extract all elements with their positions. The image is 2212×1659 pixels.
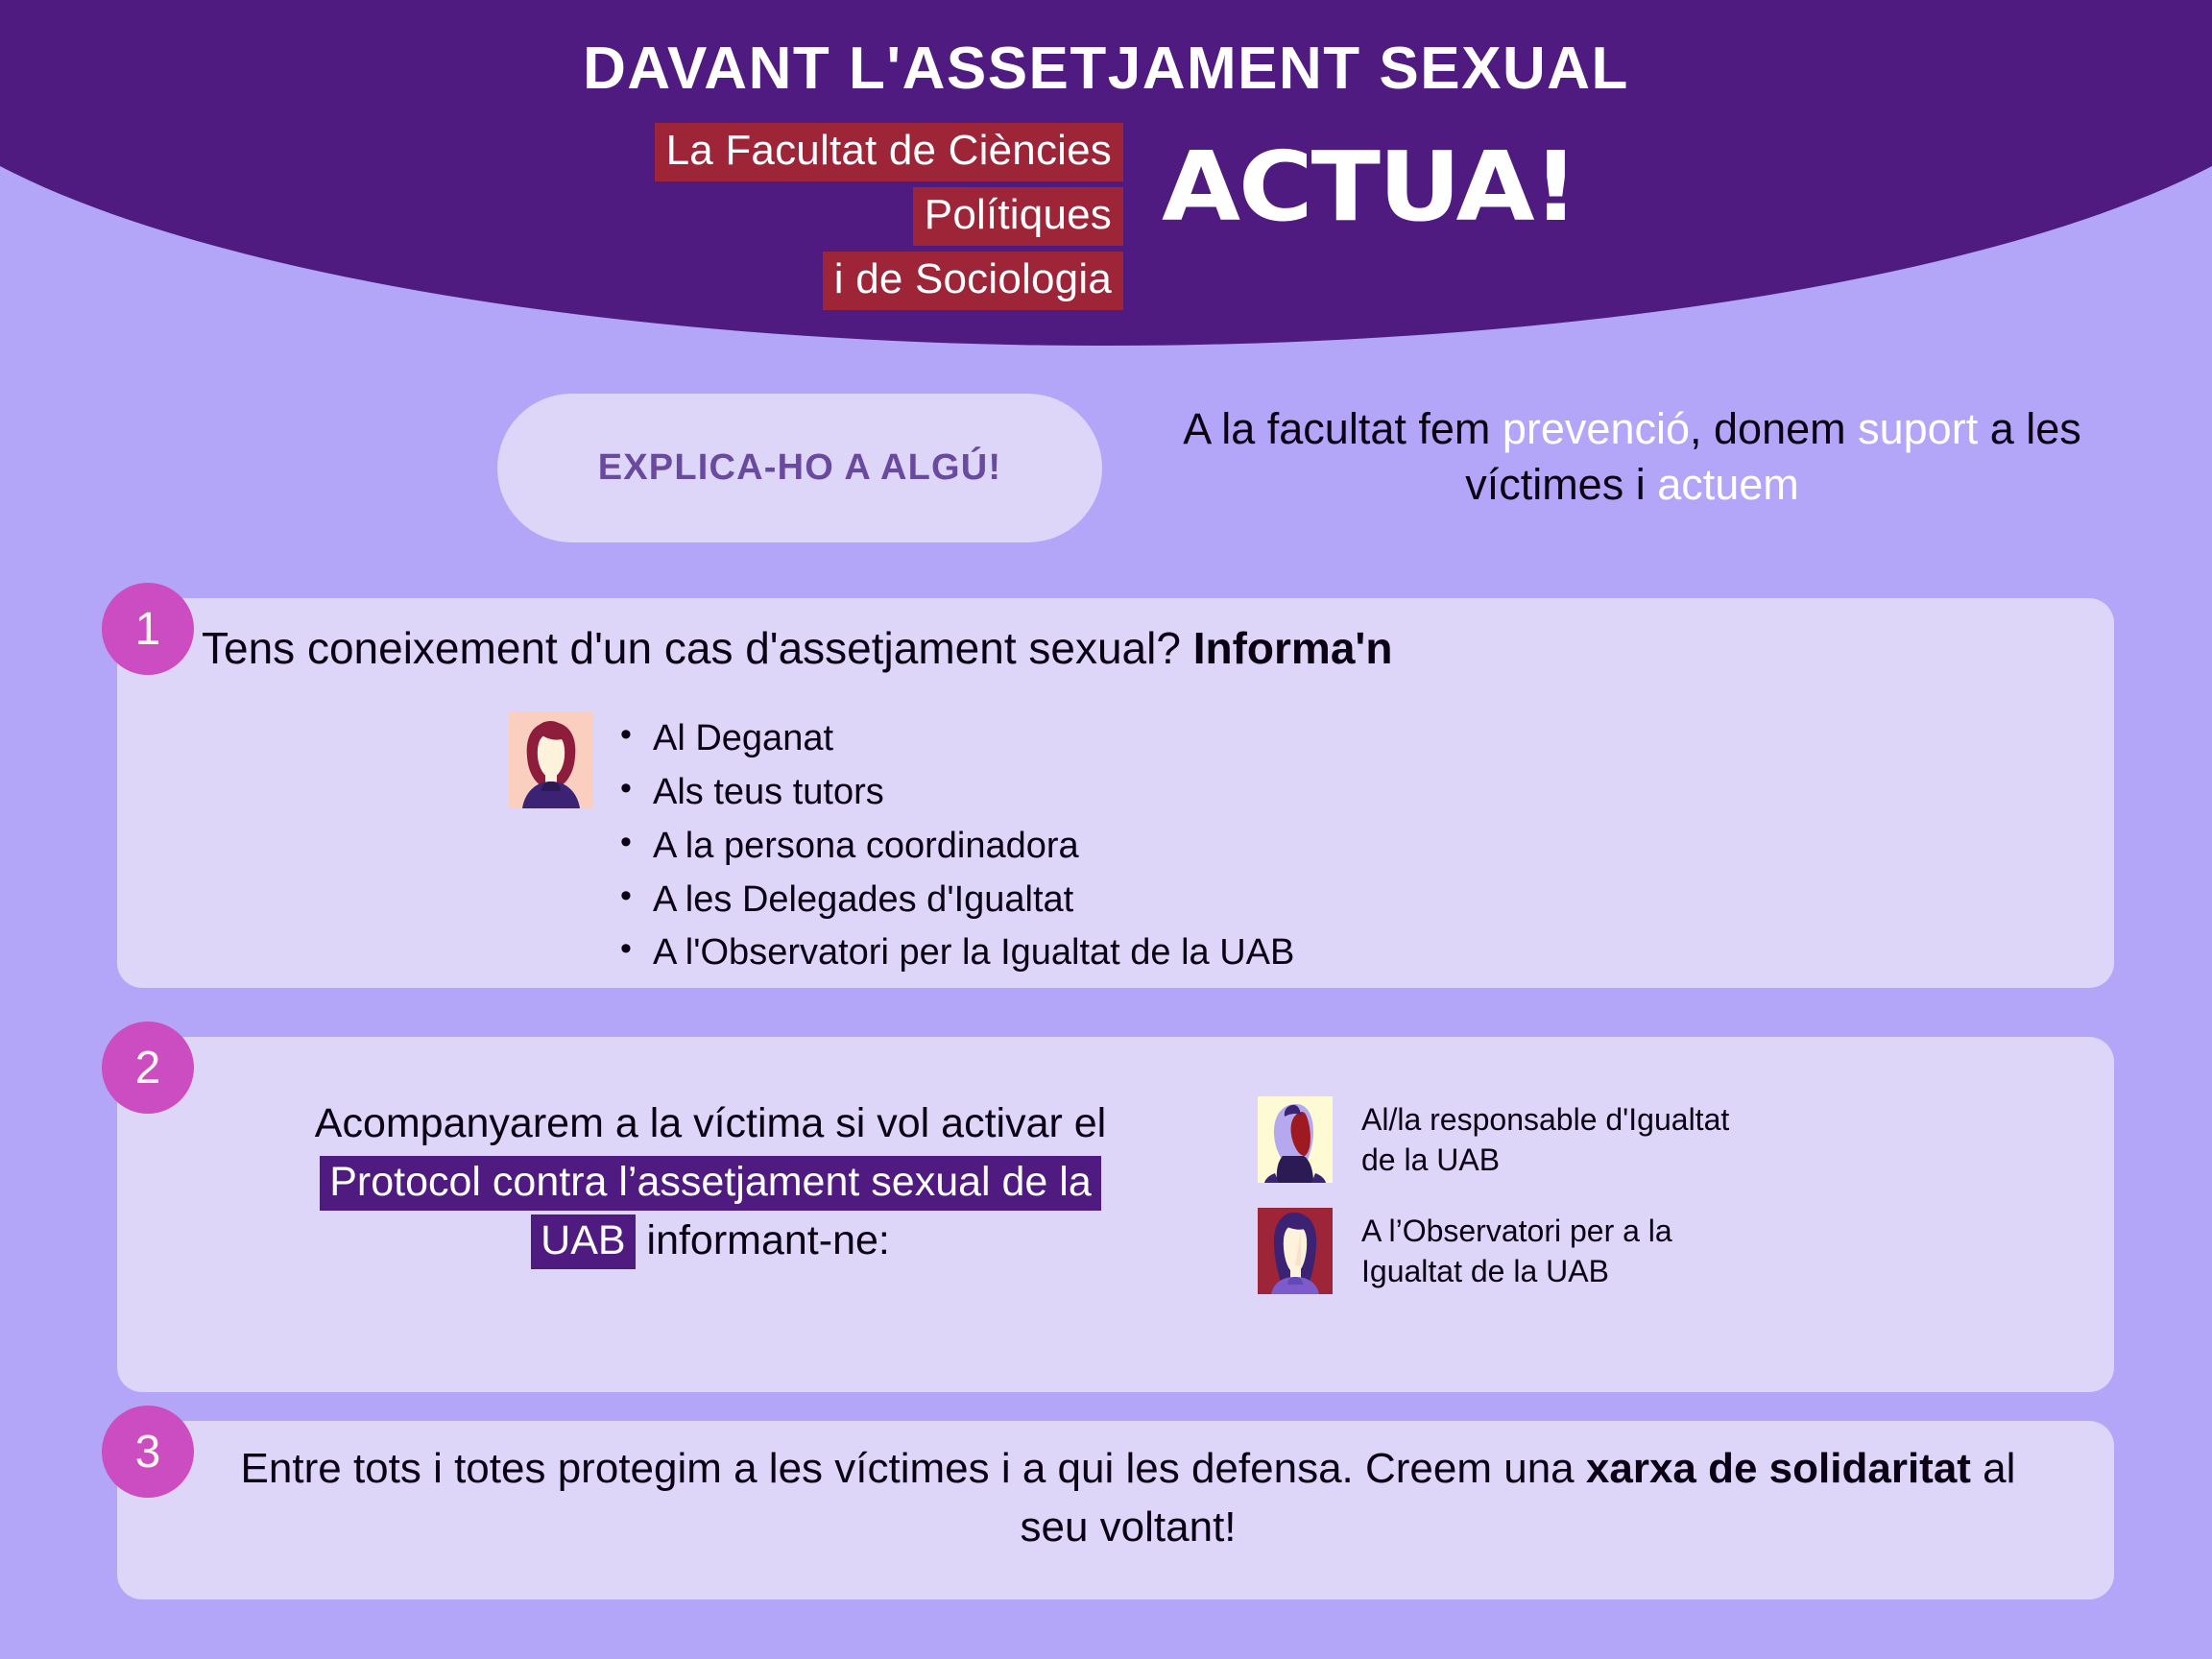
- actua-logo: ACTUA!: [1162, 131, 1577, 243]
- intro-paragraph: A la facultat fem prevenció, donem supor…: [1152, 401, 2112, 512]
- card-2-text-part-1: Acompanyarem a la víctima si vol activar…: [315, 1100, 1106, 1146]
- header-content: DAVANT L'ASSETJAMENT SEXUAL La Facultat …: [0, 0, 2212, 357]
- subtitle-line-2: Polítiques: [413, 187, 1123, 246]
- subtitle-line-3-text: i de Sociologia: [823, 252, 1123, 310]
- contact-label-line-1: A l’Observatori per a la: [1361, 1212, 1672, 1252]
- list-item: Als teus tutors: [653, 766, 1294, 820]
- contact-label: A l’Observatori per a la Igualtat de la …: [1333, 1208, 1672, 1291]
- subtitle-line-1: La Facultat de Ciències: [413, 123, 1123, 181]
- list-item: A l'Observatori per la Igualtat de la UA…: [653, 926, 1294, 980]
- card-1-heading-normal: Tens coneixement d'un cas d'assetjament …: [202, 623, 1193, 673]
- woman-burgundy-hair-avatar: [509, 712, 593, 808]
- contact-label: Al/la responsable d'Igualtat de la UAB: [1333, 1096, 1729, 1180]
- card-2-text-part-2: informant-ne:: [636, 1217, 890, 1263]
- card-3-text-part-1: Entre tots i totes protegim a les víctim…: [241, 1445, 1586, 1492]
- contact-row: Al/la responsable d'Igualtat de la UAB: [1258, 1096, 2074, 1183]
- intro-part-1: A la facultat fem: [1183, 404, 1503, 453]
- contact-label-line-2: de la UAB: [1361, 1141, 1729, 1181]
- woman-dark-bangs-avatar: [1258, 1208, 1333, 1294]
- poster-header: DAVANT L'ASSETJAMENT SEXUAL La Facultat …: [0, 0, 2212, 357]
- intro-highlight-suport: suport: [1858, 404, 1978, 453]
- woman-lilac-ponytail-avatar: [1258, 1096, 1333, 1183]
- step-badge-2: 2: [102, 1022, 194, 1114]
- subtitle-line-3: i de Sociologia: [413, 252, 1123, 310]
- contact-label-line-2: Igualtat de la UAB: [1361, 1252, 1672, 1292]
- explica-ho-pill[interactable]: EXPLICA-HO A ALGÚ!: [497, 394, 1102, 542]
- page-title: DAVANT L'ASSETJAMENT SEXUAL: [0, 35, 2212, 103]
- step-badge-1: 1: [102, 583, 194, 675]
- subtitle-line-2-text: Polítiques: [913, 187, 1123, 246]
- step-badge-3: 3: [102, 1406, 194, 1498]
- contact-row: A l’Observatori per a la Igualtat de la …: [1258, 1208, 2074, 1294]
- card-2-text: Acompanyarem a la víctima si vol activar…: [288, 1094, 1133, 1270]
- poster: DAVANT L'ASSETJAMENT SEXUAL La Facultat …: [0, 0, 2212, 1659]
- card-1-heading: Tens coneixement d'un cas d'assetjament …: [202, 622, 1392, 674]
- explica-ho-pill-label: EXPLICA-HO A ALGÚ!: [598, 447, 1002, 489]
- list-item: Al Deganat: [653, 712, 1294, 766]
- card-1-body: Al Deganat Als teus tutors A la persona …: [509, 712, 1294, 980]
- card-1-bullet-list: Al Deganat Als teus tutors A la persona …: [593, 712, 1294, 980]
- intro-highlight-prevencio: prevenció: [1503, 404, 1690, 453]
- contact-label-line-1: Al/la responsable d'Igualtat: [1361, 1100, 1729, 1141]
- faculty-subtitle: La Facultat de Ciències Polítiques i de …: [413, 123, 1123, 316]
- list-item: A les Delegades d'Igualtat: [653, 874, 1294, 927]
- list-item: A la persona coordinadora: [653, 820, 1294, 874]
- card-3-bold-phrase: xarxa de solidaritat: [1586, 1445, 1971, 1492]
- intro-part-2: , donem: [1690, 404, 1858, 453]
- card-2-contacts: Al/la responsable d'Igualtat de la UAB A…: [1258, 1096, 2074, 1319]
- intro-highlight-actuem: actuem: [1657, 460, 1799, 509]
- card-3-text: Entre tots i totes protegim a les víctim…: [202, 1440, 2055, 1556]
- subtitle-line-1-text: La Facultat de Ciències: [655, 123, 1123, 181]
- card-1-heading-bold: Informa'n: [1193, 623, 1393, 673]
